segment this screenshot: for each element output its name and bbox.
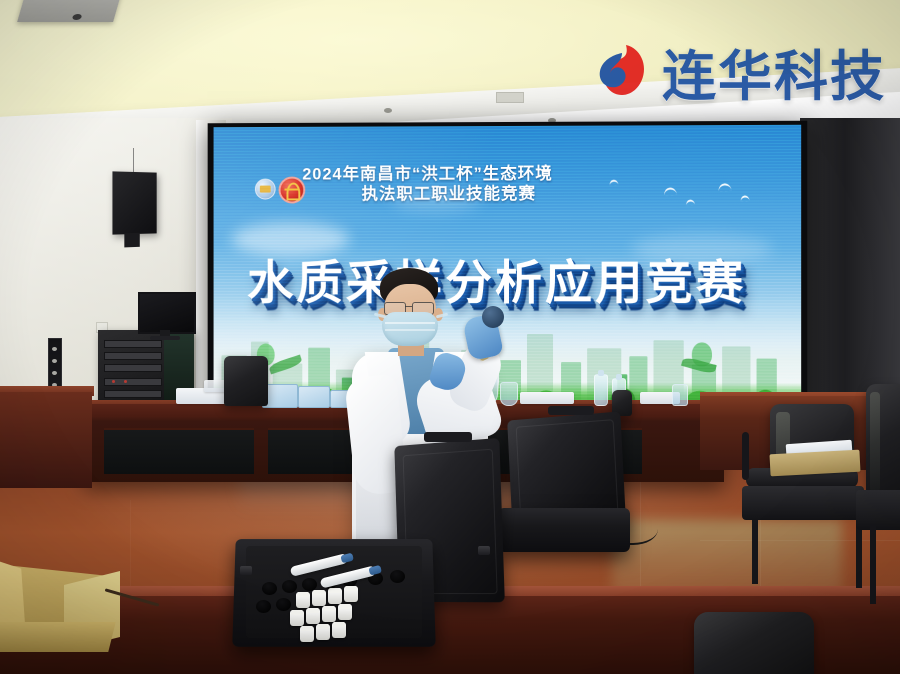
podium: [0, 392, 92, 488]
foam-cutout: [256, 600, 271, 613]
brand-watermark: 连华科技: [592, 36, 892, 106]
sample-vial: [338, 604, 352, 620]
screen-header-line1: 2024年南昌市“洪工杯”生态环境: [255, 163, 755, 184]
sample-vial: [328, 588, 342, 604]
papers: [520, 392, 574, 404]
speaker-cable: [133, 148, 134, 174]
sample-vial: [316, 624, 330, 640]
wall-speaker: [112, 171, 156, 234]
monitor: [138, 292, 196, 334]
ceiling-projector-panel: [17, 0, 123, 22]
sample-vial: [296, 592, 310, 608]
sample-vial: [312, 590, 326, 606]
nanchang-city-emblem-icon: [255, 179, 276, 200]
ceiling-vent: [496, 92, 524, 103]
sample-vial: [306, 608, 320, 624]
cardboard-box: [0, 556, 120, 652]
foam-cutout: [276, 598, 291, 611]
folder-on-chair: [769, 450, 860, 477]
water-bottle: [594, 374, 608, 406]
foam-cutout: [390, 570, 405, 583]
foam-cutout: [262, 582, 277, 595]
screen-header-line2: 执法职工职业技能竞赛: [255, 183, 755, 204]
glassware: [672, 384, 688, 406]
sample-vial: [300, 626, 314, 642]
photo-scene: 2024年南昌市“洪工杯”生态环境 执法职工职业技能竞赛 水质采样分析应用竞赛: [0, 0, 900, 674]
trade-union-emblem-icon: [279, 177, 306, 204]
lianhua-flask-logo-icon: [592, 41, 652, 101]
foam-cutout: [282, 580, 297, 593]
face-mask: [382, 312, 438, 346]
brand-name: 连华科技: [662, 32, 886, 111]
sample-vial: [322, 606, 336, 622]
sample-kit-box: [298, 386, 330, 408]
glasses-bridge: [405, 306, 412, 307]
monitor-base: [150, 336, 180, 340]
box-flap: [0, 622, 116, 652]
sample-vial: [332, 622, 346, 638]
sample-vial: [290, 610, 304, 626]
sample-vial: [344, 586, 358, 602]
screen-header: 2024年南昌市“洪工杯”生态环境 执法职工职业技能竞赛: [255, 163, 755, 204]
sprinkler-icon: [384, 108, 392, 113]
tube-cap: [482, 306, 504, 328]
desk-panel: [104, 428, 254, 474]
